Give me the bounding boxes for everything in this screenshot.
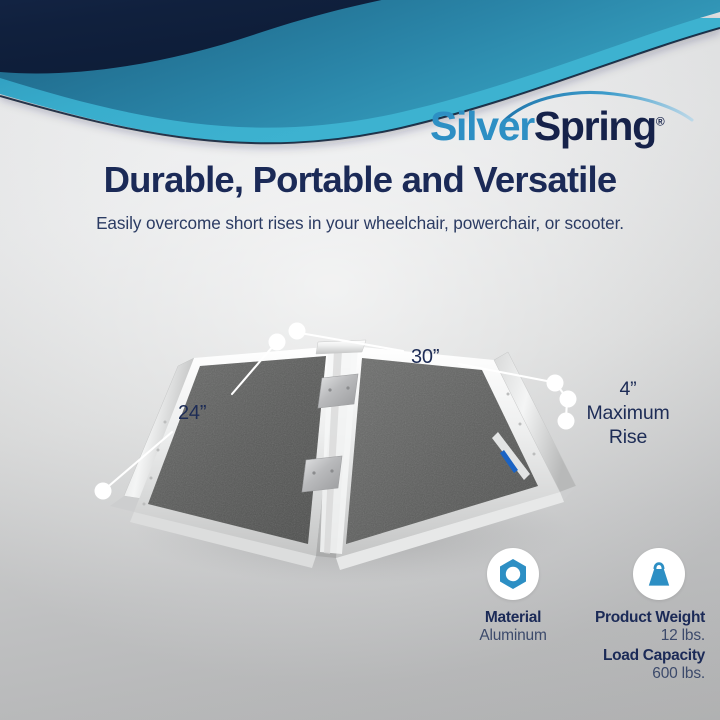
callout-label-width: 24” — [178, 402, 206, 425]
spec-weight-value: 12 lbs. — [570, 627, 705, 645]
registered-mark: ® — [656, 114, 665, 128]
weight-icon — [633, 548, 685, 600]
hex-nut-icon — [487, 548, 539, 600]
spec-badges: Material Aluminum Product Weight 12 lbs.… — [440, 548, 705, 688]
brand-logo[interactable]: SilverSpring® — [430, 92, 692, 154]
spec-weight: Product Weight 12 lbs. Load Capacity 600… — [570, 548, 705, 683]
rise-word-maximum: Maximum — [574, 402, 682, 426]
spec-material-value: Aluminum — [458, 627, 568, 645]
page-title: Durable, Portable and Versatile — [0, 159, 720, 201]
hinge-plate-lower — [302, 456, 342, 492]
spec-capacity-value: 600 lbs. — [570, 665, 705, 683]
logo-silver-text: Silver — [430, 103, 534, 149]
page-subtitle: Easily overcome short rises in your whee… — [0, 213, 720, 234]
rise-value: 4” — [574, 378, 682, 402]
spec-capacity-title: Load Capacity — [570, 647, 705, 665]
product-marketing-image: SilverSpring® Durable, Portable and Vers… — [0, 0, 720, 720]
spec-weight-title: Product Weight — [570, 609, 705, 627]
callout-label-rise: 4” Maximum Rise — [574, 378, 682, 450]
rise-word-rise: Rise — [574, 426, 682, 450]
spec-material: Material Aluminum — [458, 548, 568, 645]
spec-material-title: Material — [458, 609, 568, 627]
hinge-plate-upper — [318, 374, 358, 408]
logo-wordmark: SilverSpring® — [430, 106, 665, 147]
callout-label-length: 30” — [411, 346, 439, 369]
logo-spring-text: Spring — [534, 103, 656, 149]
